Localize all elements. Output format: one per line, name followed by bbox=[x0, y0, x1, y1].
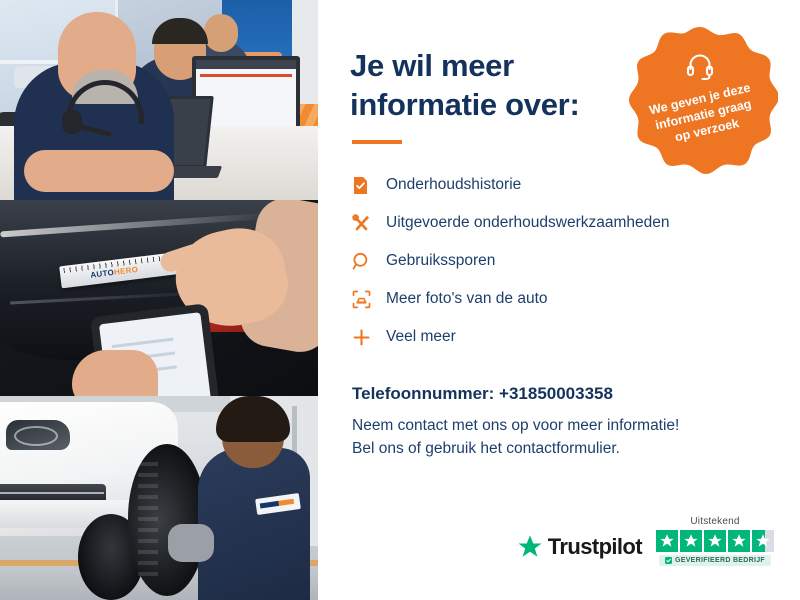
feature-list: Onderhoudshistorie Uitgevoerde onderhoud… bbox=[352, 166, 760, 356]
front-wheel bbox=[128, 444, 206, 596]
uniform-logo bbox=[255, 493, 301, 515]
feature-item-gebruikssporen: Gebruikssporen bbox=[352, 242, 760, 280]
mechanic bbox=[198, 448, 310, 600]
star-3 bbox=[704, 530, 726, 552]
star-5-half bbox=[752, 530, 774, 552]
feature-label: Gebruikssporen bbox=[386, 252, 495, 270]
verified-label: GEVERIFIEERD BEDRIJF bbox=[675, 557, 765, 564]
inspection-photo: AUTOHERO bbox=[0, 200, 318, 396]
technician-hand-2 bbox=[72, 350, 158, 396]
workshop-photo bbox=[0, 396, 318, 600]
feature-label: Uitgevoerde onderhoudswerkzaamheden bbox=[386, 214, 670, 232]
headset-mic bbox=[78, 124, 112, 137]
page-title: Je wil meer informatie over: bbox=[350, 46, 650, 124]
car-scan-icon bbox=[352, 290, 386, 309]
feature-item-veel-meer: Veel meer bbox=[352, 318, 760, 356]
feature-item-meer-fotos: Meer foto's van de auto bbox=[352, 280, 760, 318]
magnifier-icon bbox=[352, 252, 386, 271]
headline-line-2: informatie over: bbox=[350, 87, 579, 122]
verified-check-icon bbox=[665, 557, 672, 564]
work-glove bbox=[168, 524, 214, 562]
feature-label: Veel meer bbox=[386, 328, 456, 346]
star-rating bbox=[656, 530, 774, 552]
content-panel: Je wil meer informatie over: Onderhoudsh… bbox=[318, 0, 800, 600]
trustpilot-star-icon bbox=[517, 534, 543, 560]
feature-item-onderhoudswerkzaamheden: Uitgevoerde onderhoudswerkzaamheden bbox=[352, 204, 760, 242]
feature-label: Onderhoudshistorie bbox=[386, 176, 521, 194]
promo-page: AUTOHERO bbox=[0, 0, 800, 600]
rating-label: Uitstekend bbox=[690, 516, 739, 527]
star-2 bbox=[680, 530, 702, 552]
trustpilot-wordmark: Trustpilot bbox=[548, 534, 642, 560]
star-4 bbox=[728, 530, 750, 552]
verified-business-badge: GEVERIFIEERD BEDRIJF bbox=[659, 555, 771, 566]
headset-earcup bbox=[62, 110, 82, 134]
headlight bbox=[6, 420, 70, 450]
trustpilot-block[interactable]: Trustpilot Uitstekend GEVERIFIEERD BEDRI… bbox=[517, 516, 774, 566]
photo-column: AUTOHERO bbox=[0, 0, 318, 600]
contact-line-1: Neem contact met ons op voor meer inform… bbox=[352, 414, 760, 437]
agent-arm bbox=[24, 150, 174, 192]
feature-label: Meer foto's van de auto bbox=[386, 290, 548, 308]
headline-line-1: Je wil meer bbox=[350, 48, 514, 83]
document-check-icon bbox=[352, 176, 386, 195]
contact-line-2: Bel ons of gebruik het contactformulier. bbox=[352, 437, 760, 460]
promo-badge: We geven je deze informatie graag op ver… bbox=[622, 24, 778, 176]
phone-number[interactable]: Telefoonnummer: +31850003358 bbox=[352, 384, 760, 404]
trustpilot-logo: Trustpilot bbox=[517, 534, 642, 566]
call-center-photo bbox=[0, 0, 318, 200]
tools-cross-icon bbox=[352, 214, 386, 233]
star-1 bbox=[656, 530, 678, 552]
plus-icon bbox=[352, 328, 386, 347]
contact-block: Telefoonnummer: +31850003358 Neem contac… bbox=[352, 384, 760, 461]
trustpilot-rating: Uitstekend GEVERIFIEERD BEDRIJF bbox=[656, 516, 774, 566]
title-divider bbox=[352, 140, 402, 144]
